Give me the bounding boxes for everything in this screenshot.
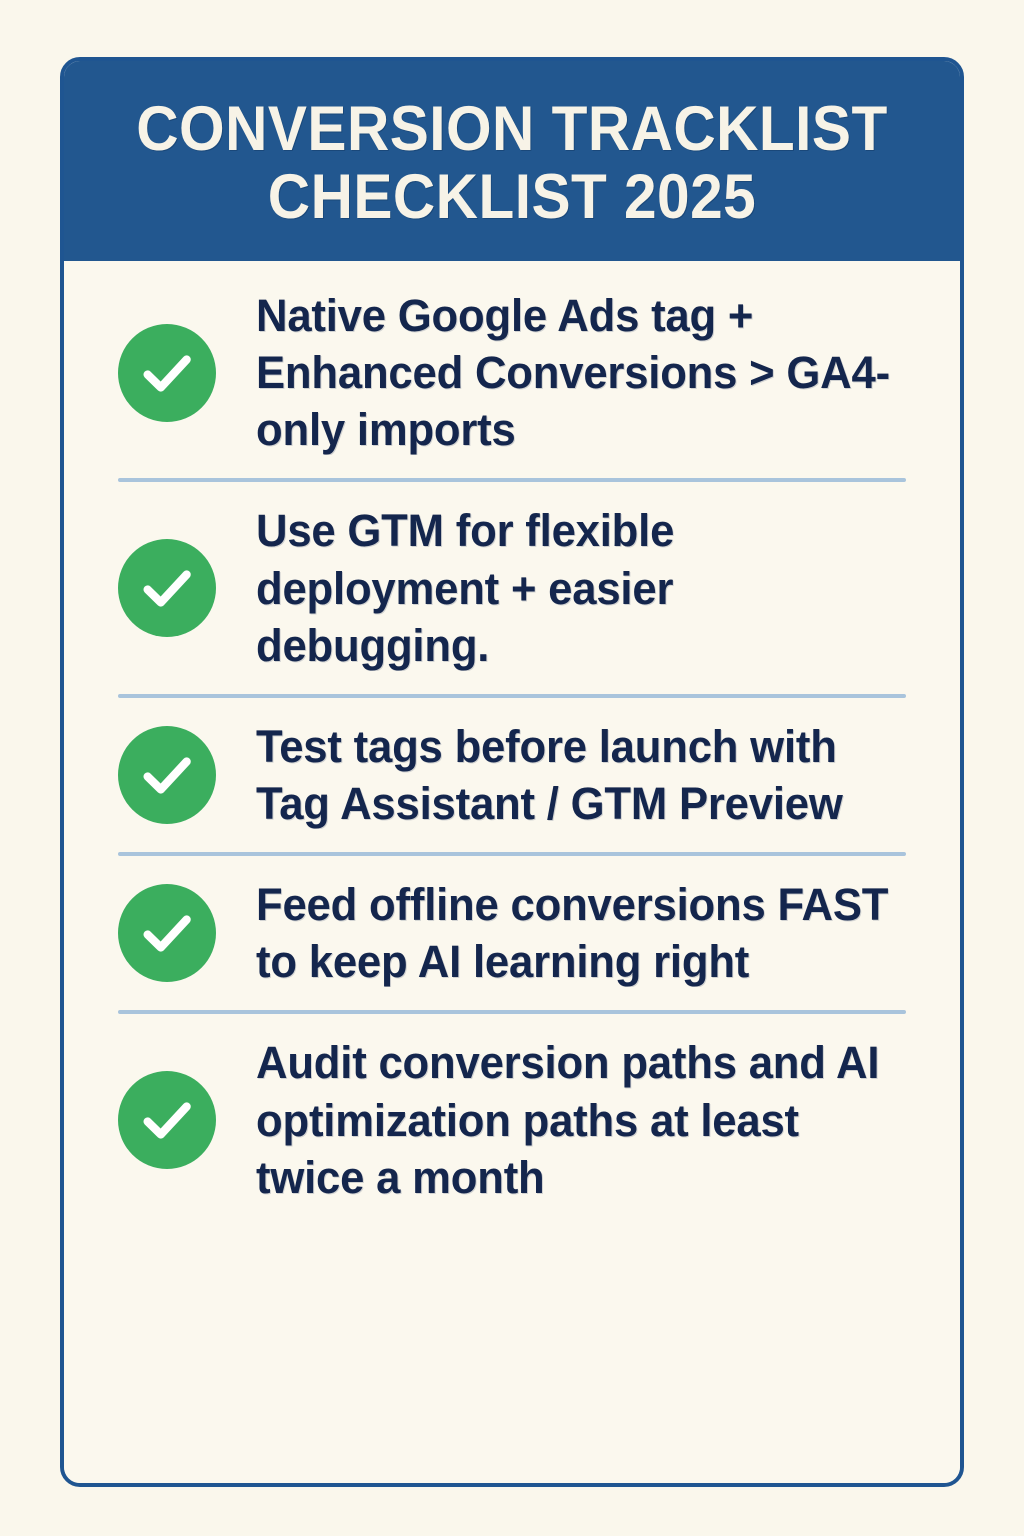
check-circle-icon xyxy=(118,1071,216,1169)
list-item-label: Audit conversion paths and AI optimizati… xyxy=(256,1034,900,1205)
page-title: CONVERSION TRACKLIST CHECKLIST 2025 xyxy=(123,95,900,231)
list-item-label: Test tags before launch with Tag Assista… xyxy=(256,718,900,832)
list-item: Use GTM for flexible deployment + easier… xyxy=(64,482,960,693)
checklist: Native Google Ads tag + Enhanced Convers… xyxy=(64,261,960,1483)
checklist-card: CONVERSION TRACKLIST CHECKLIST 2025 Nati… xyxy=(60,57,964,1487)
title-line-1: CONVERSION TRACKLIST xyxy=(136,94,887,164)
list-item-label: Feed offline conversions FAST to keep AI… xyxy=(256,876,900,990)
list-item: Test tags before launch with Tag Assista… xyxy=(64,698,960,852)
check-circle-icon xyxy=(118,884,216,982)
check-circle-icon xyxy=(118,539,216,637)
list-item-label: Use GTM for flexible deployment + easier… xyxy=(256,502,900,673)
card-header: CONVERSION TRACKLIST CHECKLIST 2025 xyxy=(64,61,960,261)
infographic-page: CONVERSION TRACKLIST CHECKLIST 2025 Nati… xyxy=(0,0,1024,1536)
check-circle-icon xyxy=(118,726,216,824)
list-item: Audit conversion paths and AI optimizati… xyxy=(64,1014,960,1225)
list-item: Native Google Ads tag + Enhanced Convers… xyxy=(64,261,960,478)
check-circle-icon xyxy=(118,324,216,422)
title-line-2: CHECKLIST 2025 xyxy=(268,162,756,232)
list-item: Feed offline conversions FAST to keep AI… xyxy=(64,856,960,1010)
list-item-label: Native Google Ads tag + Enhanced Convers… xyxy=(256,287,900,458)
